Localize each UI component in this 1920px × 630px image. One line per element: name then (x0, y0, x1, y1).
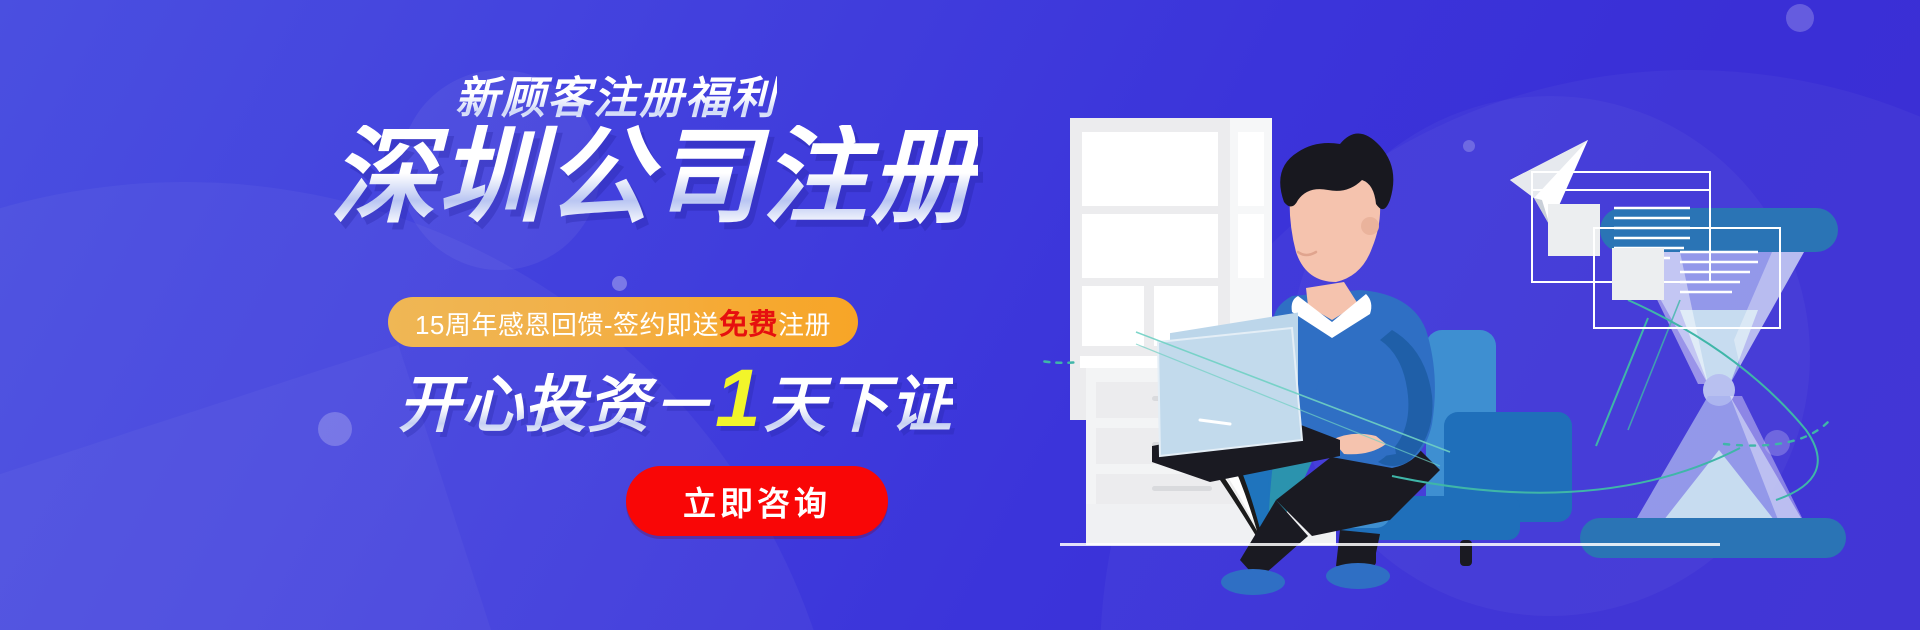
tagline-number: 1 (713, 353, 764, 444)
promo-badge-highlight: 免费 (719, 309, 778, 341)
consult-now-button[interactable]: 立即咨询 (626, 466, 888, 536)
promo-badge-suffix: 注册 (778, 310, 831, 340)
promo-badge-text: 15周年感恩回馈-签约即送免费注册 (415, 301, 831, 343)
banner-tagline: 开心投资－1天下证 (398, 358, 953, 440)
ground-line (1060, 543, 1720, 546)
banner-copy: 新顾客注册福利 深圳公司注册 15周年感恩回馈-签约即送免费注册 开心投资－1天… (0, 0, 1000, 630)
document-card (1594, 228, 1780, 328)
promo-badge-prefix: 15周年感恩回馈-签约即送 (415, 310, 719, 340)
banner-headline: 深圳公司注册 (330, 125, 978, 230)
person-working-on-laptop-illustration (1040, 0, 1920, 630)
consult-now-button-label: 立即咨询 (683, 477, 831, 525)
promo-badge: 15周年感恩回馈-签约即送免费注册 (388, 297, 858, 347)
promo-banner: 新顾客注册福利 深圳公司注册 15周年感恩回馈-签约即送免费注册 开心投资－1天… (0, 0, 1920, 630)
tagline-after: 天下证 (764, 371, 953, 440)
tagline-before: 开心投资－ (398, 371, 713, 440)
banner-eyebrow: 新顾客注册福利 (455, 62, 777, 126)
